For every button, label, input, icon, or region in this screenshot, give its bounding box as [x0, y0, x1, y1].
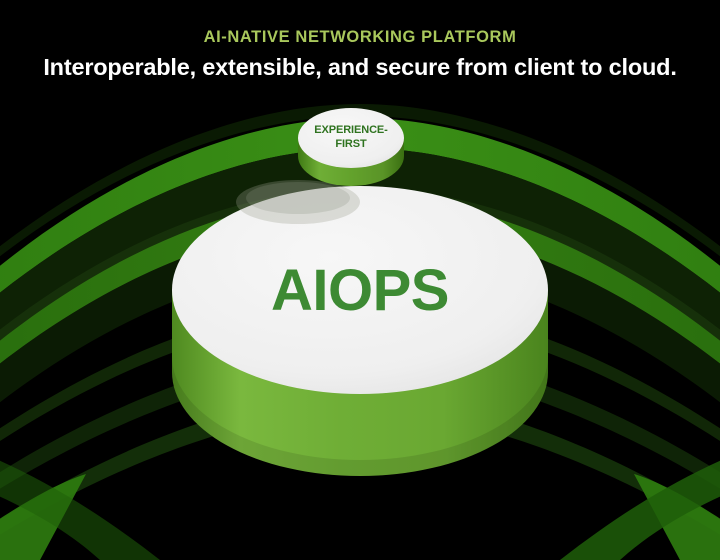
cylinder-aiops-shape	[170, 186, 550, 478]
page-eyebrow: AI-NATIVE NETWORKING PLATFORM	[0, 28, 720, 47]
cylinder-aiops: AIOPS	[170, 186, 550, 478]
cylinder-experience-first: EXPERIENCE- FIRST	[296, 106, 406, 188]
cylinder-experience-first-shape	[296, 106, 406, 188]
page-title: Interoperable, extensible, and secure fr…	[0, 54, 720, 81]
slide-canvas: AI-NATIVE NETWORKING PLATFORM Interopera…	[0, 0, 720, 560]
